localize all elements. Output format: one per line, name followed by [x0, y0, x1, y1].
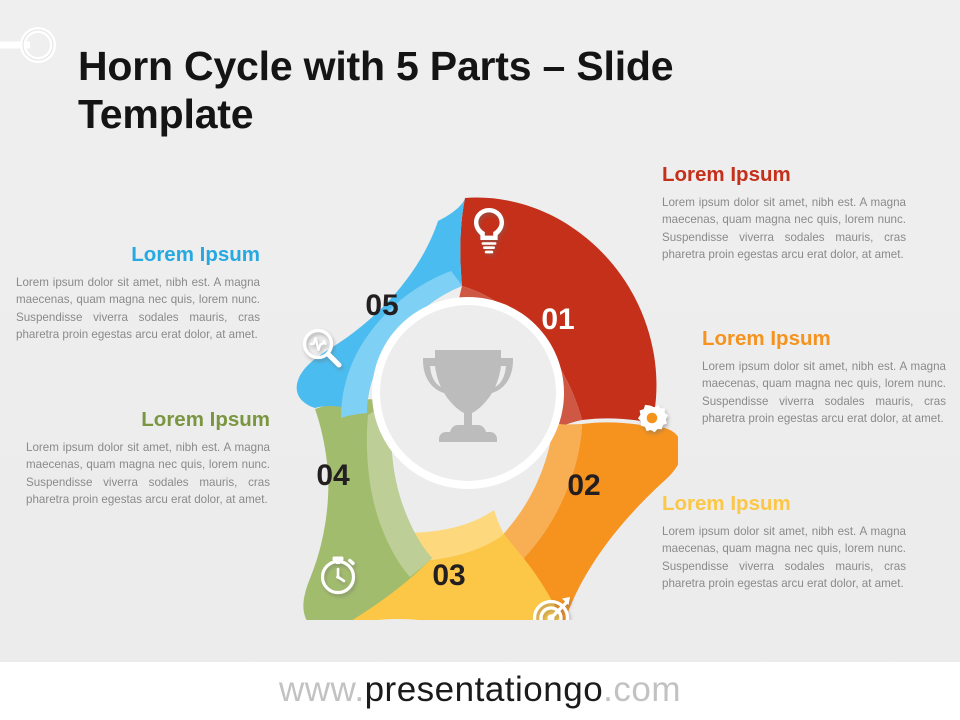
text-block-01-body: Lorem ipsum dolor sit amet, nibh est. A … — [662, 194, 906, 264]
text-block-03-body: Lorem ipsum dolor sit amet, nibh est. A … — [662, 523, 906, 593]
text-block-02-body: Lorem ipsum dolor sit amet, nibh est. A … — [702, 358, 946, 428]
decorative-pin-icon — [0, 22, 66, 68]
text-block-04: Lorem Ipsum Lorem ipsum dolor sit amet, … — [26, 408, 270, 509]
text-block-05: Lorem Ipsum Lorem ipsum dolor sit amet, … — [16, 243, 260, 344]
segment-01-number: 01 — [541, 303, 574, 336]
slide-canvas: Horn Cycle with 5 Parts – Slide Template… — [0, 0, 960, 720]
text-block-01-heading: Lorem Ipsum — [662, 163, 906, 187]
footer-url-prefix: www. — [279, 670, 365, 709]
segment-02-number: 02 — [567, 469, 600, 502]
text-block-05-heading: Lorem Ipsum — [16, 243, 260, 267]
segment-05-number: 05 — [365, 289, 398, 322]
text-block-02: Lorem Ipsum Lorem ipsum dolor sit amet, … — [702, 327, 946, 428]
page-title: Horn Cycle with 5 Parts – Slide Template — [78, 43, 838, 138]
text-block-03: Lorem Ipsum Lorem ipsum dolor sit amet, … — [662, 492, 906, 593]
text-block-02-heading: Lorem Ipsum — [702, 327, 946, 351]
segment-03-number: 03 — [432, 559, 465, 592]
footer-url: www.presentationgo.com — [0, 670, 960, 710]
footer-url-suffix: .com — [603, 670, 681, 709]
text-block-01: Lorem Ipsum Lorem ipsum dolor sit amet, … — [662, 163, 906, 264]
horn-cycle-diagram: 01 02 — [258, 160, 678, 620]
text-block-03-heading: Lorem Ipsum — [662, 492, 906, 516]
text-block-04-heading: Lorem Ipsum — [26, 408, 270, 432]
segment-04-number: 04 — [316, 459, 350, 492]
footer-url-brand: presentationgo — [365, 670, 604, 709]
text-block-05-body: Lorem ipsum dolor sit amet, nibh est. A … — [16, 274, 260, 344]
text-block-04-body: Lorem ipsum dolor sit amet, nibh est. A … — [26, 439, 270, 509]
